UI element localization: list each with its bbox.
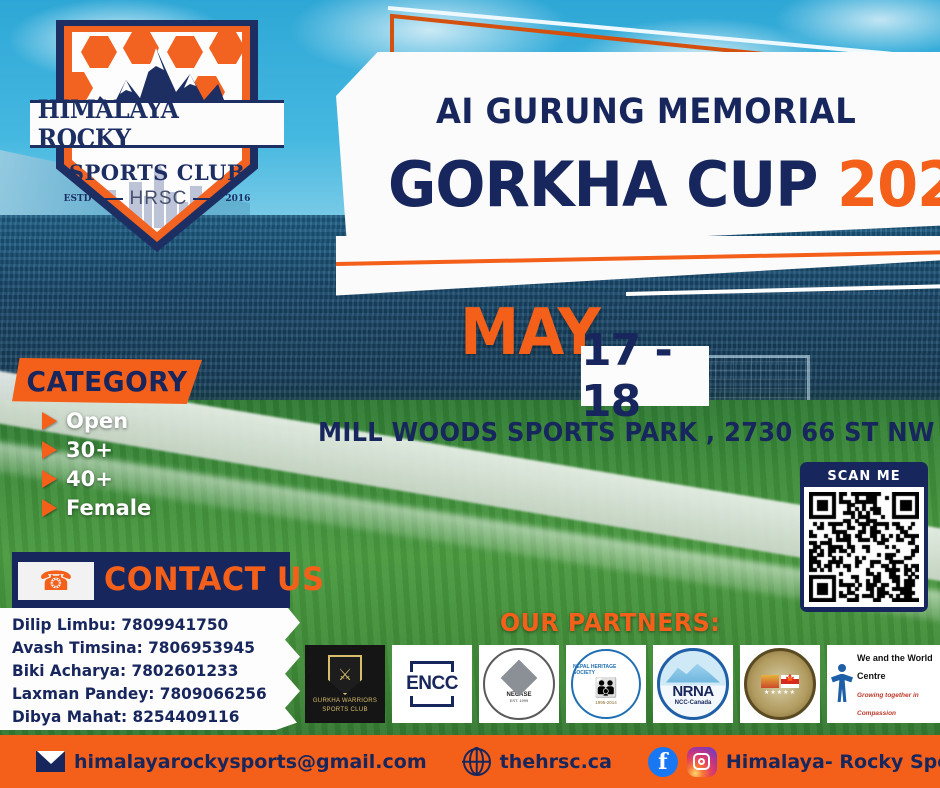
footer-website-text: thehrsc.ca	[500, 751, 612, 773]
stars-icon: ★★★★★	[764, 689, 796, 696]
facebook-icon[interactable]: f	[648, 747, 678, 777]
contact-heading: CONTACT US	[104, 560, 324, 598]
partner-subtitle: NCC-Canada	[675, 700, 712, 706]
people-figures-icon	[831, 664, 853, 704]
category-heading: CATEGORY	[17, 358, 198, 404]
event-name-text: GORKHA CUP	[388, 148, 818, 221]
category-list: Open 30+ 40+ Female	[42, 408, 151, 524]
footer-website-item[interactable]: thehrsc.ca	[463, 748, 612, 776]
crossed-kukris-icon: ⚔	[328, 655, 362, 695]
footer-email-text: himalayarockysports@gmail.com	[74, 751, 427, 773]
club-name-plate: HIMALAYA ROCKY	[30, 100, 284, 148]
partner-name: ENCC	[406, 673, 458, 695]
estd-row: ESTD HRSC 2016	[22, 188, 292, 210]
list-item: Female	[42, 495, 151, 520]
list-item: 40+	[42, 466, 151, 491]
qr-code-image	[809, 492, 919, 602]
partner-name: GURKHA WARRIORS	[313, 698, 377, 704]
partner-logo-we-and-the-world-centre: We and the World Centre Growing together…	[827, 645, 940, 723]
phone-icon: ☎	[39, 568, 73, 595]
partner-logo-necase: NECASE EST. 1999	[479, 645, 559, 723]
bracket-top-icon	[410, 661, 454, 672]
partner-logo-gurkha-warriors: ⚔ GURKHA WARRIORS SPORTS CLUB	[305, 645, 385, 723]
partner-logo-encc: ENCC	[392, 645, 472, 723]
partner-name: NEPAL HERITAGE SOCIETY	[573, 664, 639, 676]
kite-mask-icon	[501, 660, 538, 697]
club-abbr-text: HRSC	[129, 188, 187, 210]
event-month: MAY	[460, 296, 600, 370]
footer-email-item[interactable]: himalayarockysports@gmail.com	[36, 751, 427, 773]
qr-scan-label: SCAN ME	[804, 466, 924, 487]
category-item-label: Female	[66, 496, 151, 520]
partners-heading: OUR PARTNERS:	[500, 608, 720, 637]
arrow-right-icon	[42, 441, 57, 459]
footer-social-text: Himalaya- Rocky Sports Club	[726, 751, 940, 773]
instagram-icon[interactable]	[687, 747, 717, 777]
category-item-label: Open	[66, 409, 128, 433]
estd-divider-left	[97, 198, 123, 200]
list-item: Biki Acharya: 7802601233	[12, 659, 281, 682]
partner-name: NRNA	[672, 683, 713, 700]
event-year-text: 2025	[837, 148, 940, 221]
list-item: Dibya Mahat: 8254409116	[12, 705, 281, 728]
category-item-label: 40+	[66, 467, 113, 491]
qr-code-box	[804, 487, 924, 607]
footer-contact-bar: himalayarockysports@gmail.com thehrsc.ca…	[0, 735, 940, 788]
bracket-bottom-icon	[410, 696, 454, 707]
partner-logo-nepal-heritage-society: NEPAL HERITAGE SOCIETY 👪 1995-2014	[566, 645, 646, 723]
partner-name: We and the World Centre	[857, 653, 933, 681]
phone-icon-box: ☎	[18, 562, 94, 600]
memorial-title: AI GURUNG MEMORIAL	[436, 92, 856, 132]
event-days: 17 - 18	[581, 348, 709, 404]
partner-subtitle: SPORTS CLUB	[322, 707, 368, 713]
contact-list: Dilip Limbu: 7809941750 Avash Timsina: 7…	[12, 613, 292, 728]
list-item: Open	[42, 408, 151, 433]
mail-icon	[36, 751, 65, 772]
estd-label: ESTD	[64, 194, 92, 204]
nrna-emblem: NRNA NCC-Canada	[657, 648, 729, 720]
arrow-right-icon	[42, 412, 57, 430]
arrow-right-icon	[42, 470, 57, 488]
qr-code-panel[interactable]: SCAN ME	[800, 462, 928, 612]
partner-estd: 1995-2014	[595, 700, 617, 705]
tournament-poster: HIMALAYA ROCKY SPORTS CLUB ESTD HRSC 201…	[0, 0, 940, 788]
club-name-text: HIMALAYA ROCKY	[38, 95, 277, 153]
event-title: GORKHA CUP 2025	[388, 148, 940, 221]
partner-estd: EST. 1999	[510, 698, 528, 703]
sports-club-text: SPORTS CLUB	[22, 160, 292, 185]
list-item: Laxman Pandey: 7809066256	[12, 682, 281, 705]
arrow-right-icon	[42, 499, 57, 517]
estd-year: 2016	[225, 194, 250, 204]
heritage-figures-icon: 👪	[594, 676, 618, 700]
nepal-canada-flags-icon	[761, 675, 799, 688]
mountain-sunrise-icon	[666, 663, 720, 683]
partners-row: ⚔ GURKHA WARRIORS SPORTS CLUB ENCC NECAS…	[305, 643, 935, 725]
footer-social-item[interactable]: f Himalaya- Rocky Sports Club	[648, 747, 940, 777]
list-item: 30+	[42, 437, 151, 462]
medal-emblem: ★★★★★	[744, 648, 816, 720]
necase-emblem: NECASE EST. 1999	[483, 648, 555, 720]
club-logo: HIMALAYA ROCKY SPORTS CLUB ESTD HRSC 201…	[22, 12, 292, 262]
list-item: Dilip Limbu: 7809941750	[12, 613, 281, 636]
partner-logo-embassy-emblem: ★★★★★	[740, 645, 820, 723]
partner-subtitle: Growing together in Compassion	[857, 692, 919, 717]
estd-divider-right	[193, 198, 219, 200]
globe-icon	[463, 748, 491, 776]
event-venue: MILL WOODS SPORTS PARK , 2730 66 ST NW	[318, 418, 935, 448]
category-item-label: 30+	[66, 438, 113, 462]
list-item: Avash Timsina: 7806953945	[12, 636, 281, 659]
partner-logo-nrna: NRNA NCC-Canada	[653, 645, 733, 723]
heritage-emblem: NEPAL HERITAGE SOCIETY 👪 1995-2014	[571, 649, 641, 719]
